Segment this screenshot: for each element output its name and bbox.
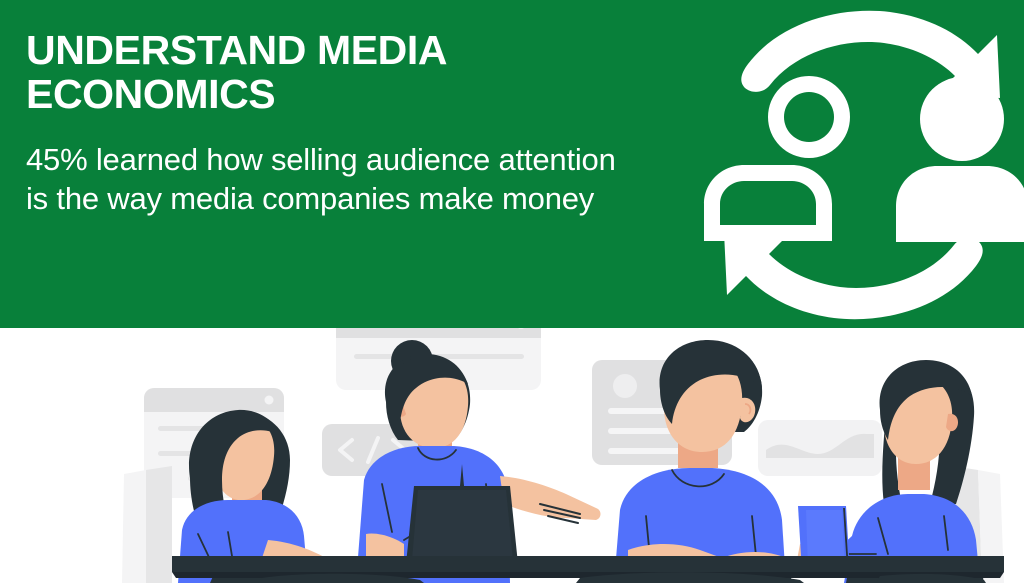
- chair-left: [122, 466, 172, 583]
- team-meeting-illustration: [0, 328, 1024, 583]
- chart-card: [758, 420, 882, 476]
- page-title: Understand Media Economics: [26, 28, 586, 116]
- header-band: Understand Media Economics 45% learned h…: [0, 0, 1024, 328]
- page-subtitle: 45% learned how selling audience attenti…: [26, 140, 626, 218]
- infographic-card: Understand Media Economics 45% learned h…: [0, 0, 1024, 583]
- two-users-cycle-icon: [700, 2, 1024, 328]
